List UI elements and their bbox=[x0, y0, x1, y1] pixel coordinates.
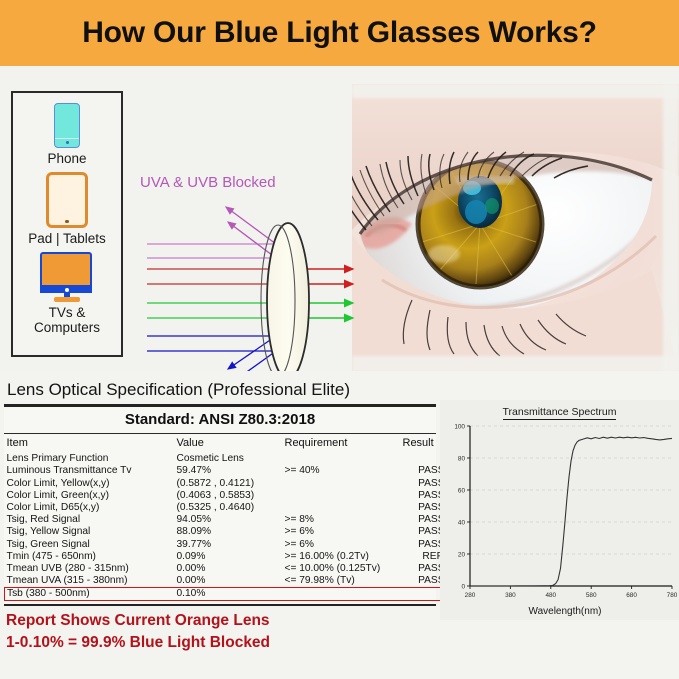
cell-item: Lens Primary Function bbox=[5, 453, 175, 465]
column-header-value: Value bbox=[175, 434, 283, 453]
cell-result: PASS bbox=[401, 501, 445, 513]
chart-plot: 020406080100 280380480580680780 Waveleng… bbox=[440, 418, 679, 620]
spec-section-title: Lens Optical Specification (Professional… bbox=[7, 380, 350, 400]
chart-series-transmittance bbox=[470, 437, 672, 586]
hero-illustration: Phone Pad | Tablets TVs & Computers bbox=[0, 66, 679, 371]
transmittance-chart: Transmittance Spectrum 020406080100 2803… bbox=[440, 400, 679, 620]
cell-item: Luminous Transmittance Tv bbox=[5, 465, 175, 477]
svg-text:480: 480 bbox=[545, 592, 556, 599]
cell-req: >= 8% bbox=[283, 514, 401, 526]
chart-x-ticks: 280380480580680780 bbox=[465, 586, 678, 599]
cell-result: PASS bbox=[401, 538, 445, 550]
chart-x-axis-label: Wavelength(nm) bbox=[529, 606, 602, 617]
table-row: Tsig, Red Signal94.05%>= 8%PASS bbox=[5, 514, 445, 526]
cell-req bbox=[283, 489, 401, 501]
table-row: Lens Primary FunctionCosmetic Lens bbox=[5, 453, 445, 465]
cell-result: PASS bbox=[401, 526, 445, 538]
cell-value: 0.00% bbox=[175, 575, 283, 588]
cell-req: <= 10.00% (0.125Tv) bbox=[283, 562, 401, 574]
cell-value: 88.09% bbox=[175, 526, 283, 538]
conclusion-text: Report Shows Current Orange Lens 1-0.10%… bbox=[6, 610, 436, 654]
cell-result: PASS bbox=[401, 465, 445, 477]
table-row: Color Limit, Yellow(x,y)(0.5872 , 0.4121… bbox=[5, 477, 445, 489]
cell-req bbox=[283, 501, 401, 513]
svg-text:380: 380 bbox=[505, 592, 516, 599]
spec-table: Item Value Requirement Result Lens Prima… bbox=[4, 434, 445, 601]
cell-value: Cosmetic Lens bbox=[175, 453, 283, 465]
spec-table-container: Standard: ANSI Z80.3:2018 Item Value Req… bbox=[4, 404, 436, 604]
column-header-item: Item bbox=[5, 434, 175, 453]
cell-item: Tsig, Yellow Signal bbox=[5, 526, 175, 538]
table-row: Color Limit, Green(x,y)(0.4063 , 0.5853)… bbox=[5, 489, 445, 501]
cell-result: PASS bbox=[401, 575, 445, 588]
cell-result bbox=[401, 587, 445, 600]
svg-text:780: 780 bbox=[667, 592, 678, 599]
cell-item: Tmin (475 - 650nm) bbox=[5, 550, 175, 562]
infographic-page: How Our Blue Light Glasses Works? bbox=[0, 0, 679, 679]
cell-value: 94.05% bbox=[175, 514, 283, 526]
cell-item: Color Limit, Green(x,y) bbox=[5, 489, 175, 501]
cell-result: REF. bbox=[401, 550, 445, 562]
cell-req bbox=[283, 453, 401, 465]
svg-text:0: 0 bbox=[461, 583, 465, 590]
cell-value: 0.00% bbox=[175, 562, 283, 574]
conclusion-line-2: 1-0.10% = 99.9% Blue Light Blocked bbox=[6, 632, 436, 654]
cell-req bbox=[283, 477, 401, 489]
table-row: Tmean UVA (315 - 380nm)0.00%<= 79.98% (T… bbox=[5, 575, 445, 588]
chart-gridlines bbox=[470, 426, 672, 554]
table-row: Tsb (380 - 500nm)0.10% bbox=[5, 587, 445, 600]
svg-text:580: 580 bbox=[586, 592, 597, 599]
page-title: How Our Blue Light Glasses Works? bbox=[82, 16, 597, 50]
table-row: Color Limit, D65(x,y)(0.5325 , 0.4640)PA… bbox=[5, 501, 445, 513]
cell-req: >= 6% bbox=[283, 538, 401, 550]
svg-text:20: 20 bbox=[458, 551, 466, 558]
cell-item: Tsig, Green Signal bbox=[5, 538, 175, 550]
cell-req bbox=[283, 587, 401, 600]
cell-item: Tmean UVB (280 - 315nm) bbox=[5, 562, 175, 574]
cell-req: <= 79.98% (Tv) bbox=[283, 575, 401, 588]
table-row: Tmin (475 - 650nm)0.09%>= 16.00% (0.2Tv)… bbox=[5, 550, 445, 562]
cell-value: 59.47% bbox=[175, 465, 283, 477]
cell-value: 39.77% bbox=[175, 538, 283, 550]
cell-req: >= 16.00% (0.2Tv) bbox=[283, 550, 401, 562]
cell-value: (0.4063 , 0.5853) bbox=[175, 489, 283, 501]
table-row: Tsig, Yellow Signal88.09%>= 6%PASS bbox=[5, 526, 445, 538]
column-header-requirement: Requirement bbox=[283, 434, 401, 453]
table-row: Tsig, Green Signal39.77%>= 6%PASS bbox=[5, 538, 445, 550]
chart-y-ticks: 020406080100 bbox=[454, 423, 470, 590]
cell-result: PASS bbox=[401, 477, 445, 489]
conclusion-line-1: Report Shows Current Orange Lens bbox=[6, 610, 436, 632]
svg-text:100: 100 bbox=[454, 423, 465, 430]
uv-blocked-label: UVA & UVB Blocked bbox=[140, 174, 276, 191]
cell-value: (0.5325 , 0.4640) bbox=[175, 501, 283, 513]
cell-result bbox=[401, 453, 445, 465]
cell-value: 0.10% bbox=[175, 587, 283, 600]
svg-text:280: 280 bbox=[465, 592, 476, 599]
cell-value: (0.5872 , 0.4121) bbox=[175, 477, 283, 489]
light-ray-diagram bbox=[0, 66, 679, 371]
page-header: How Our Blue Light Glasses Works? bbox=[0, 0, 679, 66]
cell-item: Color Limit, Yellow(x,y) bbox=[5, 477, 175, 489]
table-header-row: Item Value Requirement Result bbox=[5, 434, 445, 453]
cell-result: PASS bbox=[401, 489, 445, 501]
svg-text:680: 680 bbox=[626, 592, 637, 599]
svg-text:60: 60 bbox=[458, 487, 466, 494]
svg-text:40: 40 bbox=[458, 519, 466, 526]
chart-title: Transmittance Spectrum bbox=[440, 406, 679, 418]
table-row: Luminous Transmittance Tv59.47%>= 40%PAS… bbox=[5, 465, 445, 477]
cell-item: Tsig, Red Signal bbox=[5, 514, 175, 526]
cell-item: Color Limit, D65(x,y) bbox=[5, 501, 175, 513]
table-bottom-rule bbox=[4, 604, 436, 607]
standard-label: Standard: ANSI Z80.3:2018 bbox=[4, 407, 436, 433]
svg-text:80: 80 bbox=[458, 455, 466, 462]
cell-item: Tsb (380 - 500nm) bbox=[5, 587, 175, 600]
cell-result: PASS bbox=[401, 562, 445, 574]
cell-req: >= 6% bbox=[283, 526, 401, 538]
table-row: Tmean UVB (280 - 315nm)0.00%<= 10.00% (0… bbox=[5, 562, 445, 574]
cell-item: Tmean UVA (315 - 380nm) bbox=[5, 575, 175, 588]
cell-value: 0.09% bbox=[175, 550, 283, 562]
cell-req: >= 40% bbox=[283, 465, 401, 477]
cell-result: PASS bbox=[401, 514, 445, 526]
column-header-result: Result bbox=[401, 434, 445, 453]
